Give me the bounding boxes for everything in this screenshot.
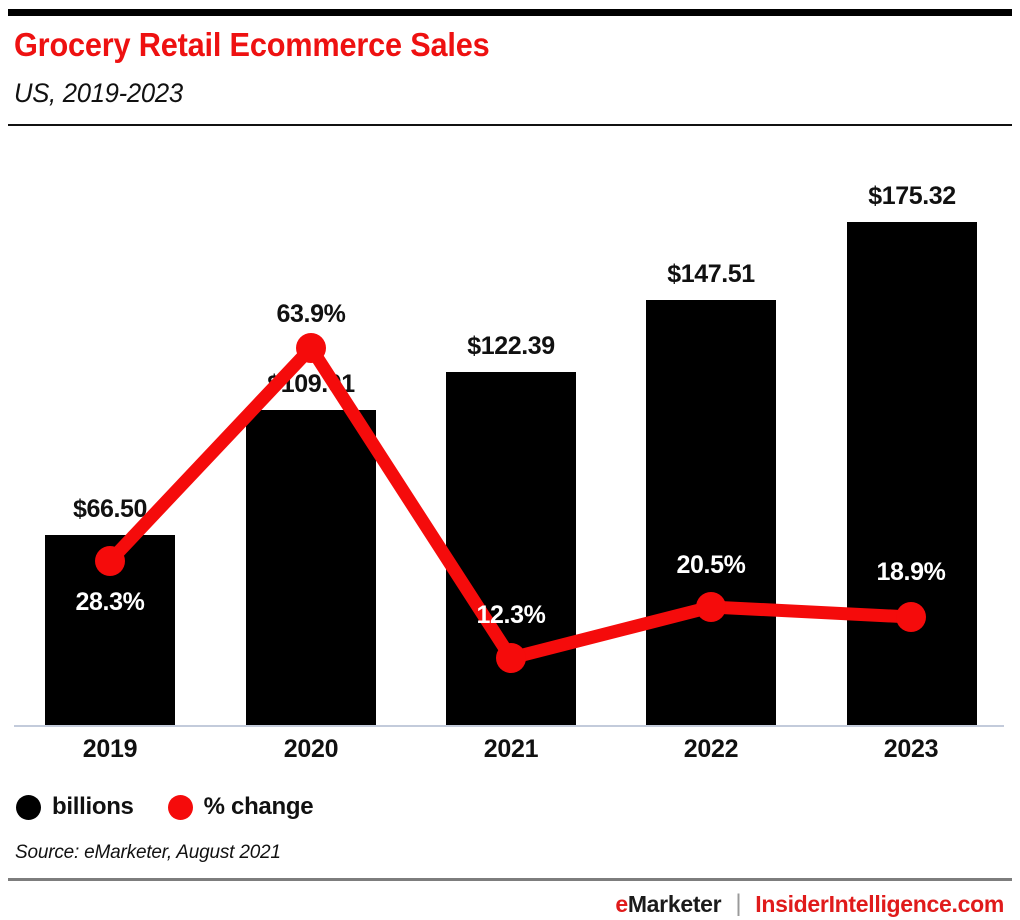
legend-item-percent-change[interactable]: % change bbox=[168, 793, 314, 821]
brand-emarketer-e: e bbox=[615, 891, 628, 917]
percent-label-2020: 63.9% bbox=[231, 300, 391, 329]
x-tick-2021: 2021 bbox=[441, 735, 581, 764]
percent-label-2021: 12.3% bbox=[431, 601, 591, 630]
x-tick-2022: 2022 bbox=[641, 735, 781, 764]
legend-circle-icon-billions bbox=[16, 795, 41, 820]
bar-2023 bbox=[847, 222, 977, 726]
percent-label-2019: 28.3% bbox=[30, 588, 190, 617]
bar-2022 bbox=[646, 300, 776, 726]
chart-plot-area: $66.50$109.01$122.39$147.51$175.3228.3%6… bbox=[0, 0, 1020, 920]
bar-value-label-2019: $66.50 bbox=[45, 495, 175, 524]
x-tick-2020: 2020 bbox=[241, 735, 381, 764]
bar-value-label-2021: $122.39 bbox=[446, 332, 576, 361]
data-point-marker-2020[interactable] bbox=[296, 333, 326, 363]
bar-value-label-2022: $147.51 bbox=[646, 260, 776, 289]
bar-value-label-2023: $175.32 bbox=[847, 182, 977, 211]
brand-emarketer[interactable]: eMarketer bbox=[615, 891, 721, 918]
bar-2021 bbox=[446, 372, 576, 726]
bar-2019 bbox=[45, 535, 175, 726]
legend-label-billions: billions bbox=[52, 793, 134, 821]
legend-item-billions[interactable]: billions bbox=[16, 793, 134, 821]
legend-label-percent-change: % change bbox=[204, 793, 314, 821]
percent-label-2023: 18.9% bbox=[831, 558, 991, 587]
footer-divider bbox=[8, 878, 1012, 881]
x-tick-2019: 2019 bbox=[40, 735, 180, 764]
brand-emarketer-rest: Marketer bbox=[628, 891, 722, 917]
percent-label-2022: 20.5% bbox=[631, 551, 791, 580]
brand-insider-intelligence-link[interactable]: InsiderIntelligence.com bbox=[755, 891, 1004, 918]
legend-circle-icon-percent-change bbox=[168, 795, 193, 820]
x-axis-line bbox=[14, 725, 1004, 727]
footer-branding: eMarketer | InsiderIntelligence.com bbox=[615, 890, 1004, 918]
source-note: Source: eMarketer, August 2021 bbox=[15, 842, 281, 864]
brand-separator: | bbox=[733, 890, 743, 918]
chart-page: Grocery Retail Ecommerce Sales US, 2019-… bbox=[0, 0, 1020, 920]
chart-legend: billions % change bbox=[16, 793, 313, 821]
x-tick-2023: 2023 bbox=[841, 735, 981, 764]
bar-value-label-2020: $109.01 bbox=[246, 370, 376, 399]
bar-2020 bbox=[246, 410, 376, 726]
